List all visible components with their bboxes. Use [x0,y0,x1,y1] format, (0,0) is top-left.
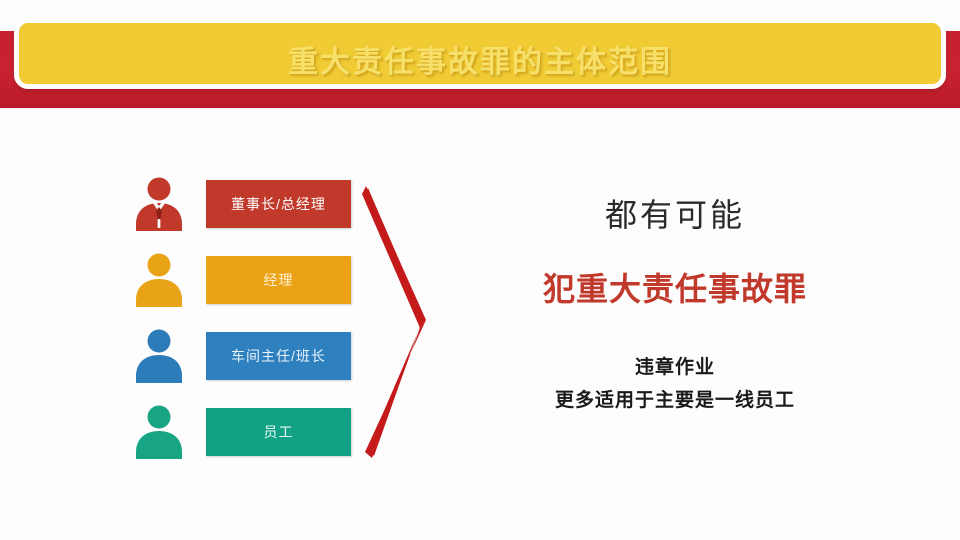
person-icon [128,402,190,464]
list-item: 董事长/总经理 [128,172,358,248]
conclusion-note-line1: 违章作业 [500,351,850,384]
role-box-supervisor[interactable]: 车间主任/班长 [206,332,351,380]
conclusion-line-possible: 都有可能 [500,196,850,234]
role-label: 经理 [264,270,294,290]
role-hierarchy-list: 董事长/总经理 经理 车间主任/ [128,172,358,476]
role-box-chairman[interactable]: 董事长/总经理 [206,180,351,228]
list-item: 车间主任/班长 [128,324,358,400]
conclusion-line-crime: 犯重大责任事故罪 [500,270,850,308]
conclusion-text-block: 都有可能 犯重大责任事故罪 违章作业 更多适用于主要是一线员工 [500,196,850,417]
person-icon [128,250,190,312]
person-icon [128,326,190,388]
red-chevron-arrow [362,186,472,458]
list-item: 员工 [128,400,358,476]
role-box-employee[interactable]: 员工 [206,408,351,456]
role-label: 车间主任/班长 [231,346,326,366]
page-title: 重大责任事故罪的主体范围 [19,23,941,94]
role-box-manager[interactable]: 经理 [206,256,351,304]
conclusion-note-line2: 更多适用于主要是一线员工 [500,384,850,417]
role-label: 员工 [264,422,294,442]
slide-header: 重大责任事故罪的主体范围 [0,0,960,120]
list-item: 经理 [128,248,358,324]
role-label: 董事长/总经理 [231,194,326,214]
slide-canvas: 重大责任事故罪的主体范围 董事长/总经理 [0,0,960,540]
person-suit-icon [128,174,190,236]
header-title-plate: 重大责任事故罪的主体范围 [14,18,946,89]
